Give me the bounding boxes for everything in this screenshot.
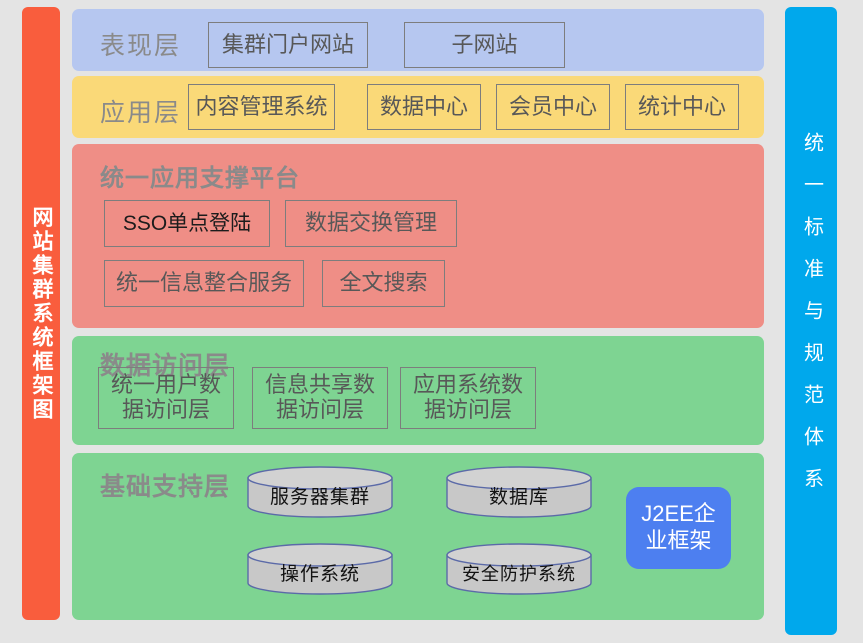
box-cluster-portal-site[interactable]: 集群门户网站: [208, 22, 368, 68]
left-title-rail: 网站集群系统框架图: [22, 7, 60, 620]
layer-application-title: 应用层: [100, 93, 181, 129]
layer-data-access: 数据访问层 统一用户数 据访问层 信息共享数 据访问层 应用系统数 据访问层: [72, 336, 764, 445]
architecture-diagram: 网站集群系统框架图 统一标准与规范体系 表现层 集群门户网站 子网站 应用层 内…: [0, 0, 863, 643]
right-rail-label: 统一标准与规范体系: [801, 132, 822, 510]
box-member-center[interactable]: 会员中心: [496, 84, 610, 130]
box-j2ee-enterprise-framework[interactable]: J2EE企业框架: [626, 487, 731, 569]
cylinder-server-cluster-label: 服务器集群: [247, 466, 393, 518]
left-rail-label: 网站集群系统框架图: [30, 206, 52, 422]
layer-support-platform: 统一应用支撑平台 SSO单点登陆 数据交换管理 统一信息整合服务 全文搜索: [72, 144, 764, 328]
cylinder-operating-system[interactable]: 操作系统: [247, 543, 393, 595]
layer-presentation: 表现层 集群门户网站 子网站: [72, 9, 764, 71]
box-sub-site[interactable]: 子网站: [404, 22, 565, 68]
box-information-sharing-data-access-layer[interactable]: 信息共享数 据访问层: [252, 367, 388, 429]
layer-infrastructure: 基础支持层 服务器集群 数据库 操作系统: [72, 453, 764, 620]
box-data-exchange-management[interactable]: 数据交换管理: [285, 200, 457, 247]
cylinder-operating-system-label: 操作系统: [247, 543, 393, 595]
cylinder-database[interactable]: 数据库: [446, 466, 592, 518]
cylinder-server-cluster[interactable]: 服务器集群: [247, 466, 393, 518]
layer-application: 应用层 内容管理系统 数据中心 会员中心 统计中心: [72, 76, 764, 138]
box-statistics-center[interactable]: 统计中心: [625, 84, 739, 130]
box-full-text-search[interactable]: 全文搜索: [322, 260, 445, 307]
box-unified-information-integration-service[interactable]: 统一信息整合服务: [104, 260, 304, 307]
box-sso-single-sign-on[interactable]: SSO单点登陆: [104, 200, 270, 247]
cylinder-database-label: 数据库: [446, 466, 592, 518]
layer-infrastructure-title: 基础支持层: [100, 467, 230, 503]
box-unified-user-data-access-layer[interactable]: 统一用户数 据访问层: [98, 367, 234, 429]
cylinder-security-protection-system[interactable]: 安全防护系统: [446, 543, 592, 595]
right-title-rail: 统一标准与规范体系: [785, 7, 837, 635]
box-data-center[interactable]: 数据中心: [367, 84, 481, 130]
cylinder-security-protection-system-label: 安全防护系统: [446, 543, 592, 595]
box-application-system-data-access-layer[interactable]: 应用系统数 据访问层: [400, 367, 536, 429]
layer-support-platform-title: 统一应用支撑平台: [100, 158, 300, 193]
box-content-management-system[interactable]: 内容管理系统: [188, 84, 335, 130]
layer-presentation-title: 表现层: [100, 26, 181, 62]
